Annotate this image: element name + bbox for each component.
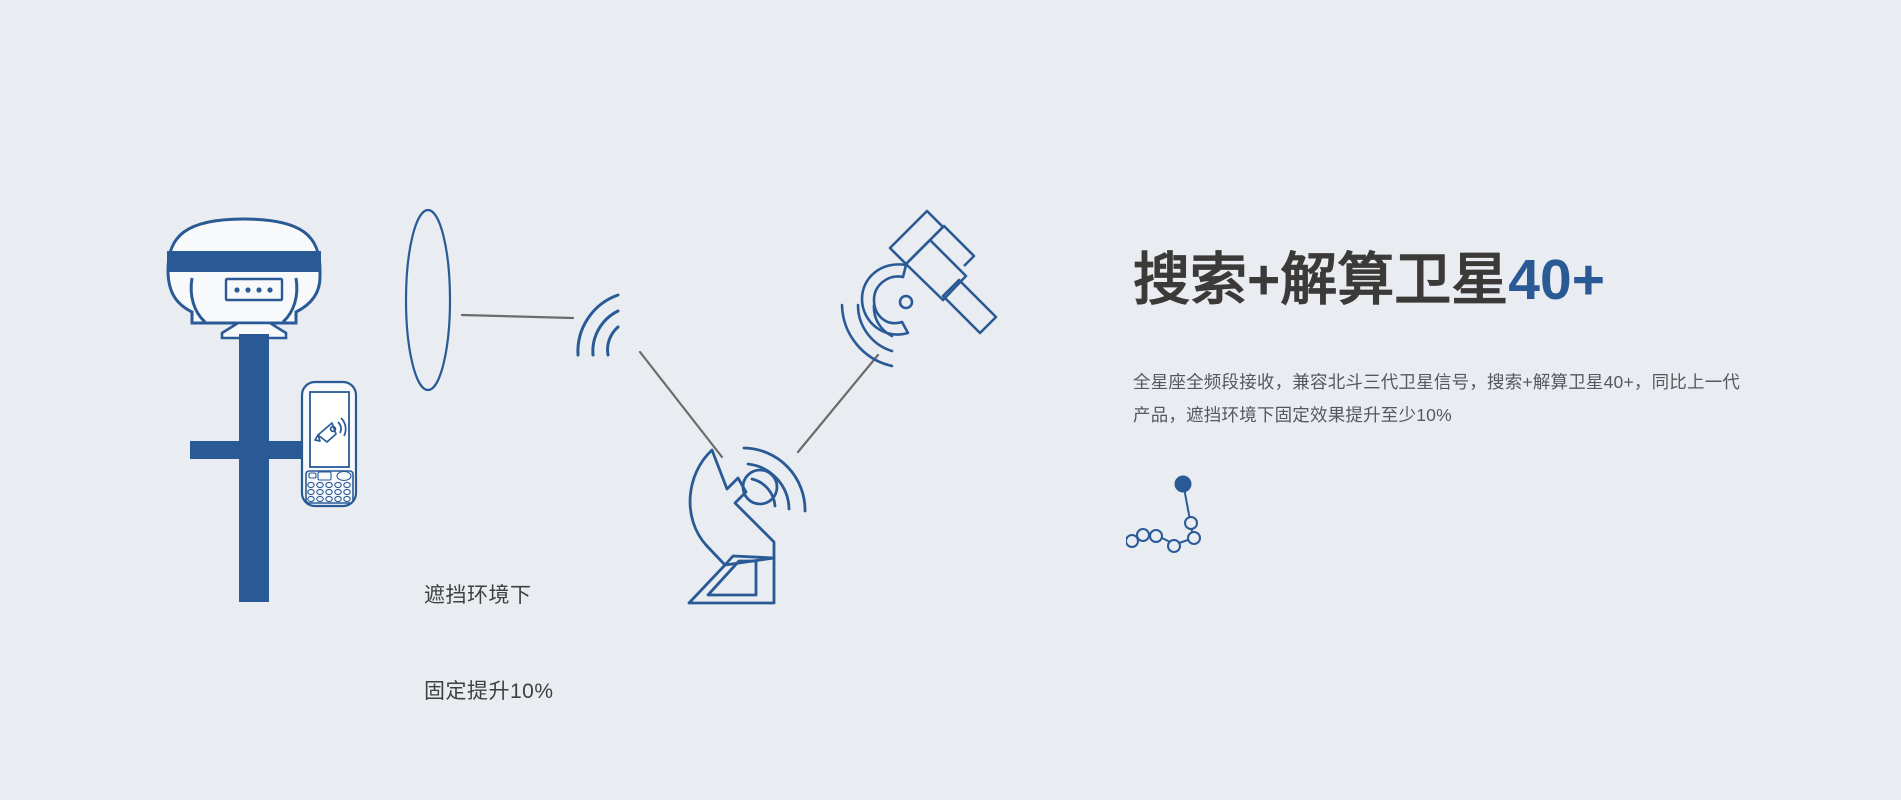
receiver-blue-band bbox=[167, 251, 321, 272]
satellite-dish-feed bbox=[900, 296, 912, 308]
signal-arcs-upper bbox=[578, 295, 618, 355]
led-indicator bbox=[256, 287, 261, 292]
connector-lines bbox=[462, 315, 878, 457]
led-indicator bbox=[267, 287, 272, 292]
feature-description: 全星座全频段接收，兼容北斗三代卫星信号，搜索+解算卫星40+，同比上一代产品，遮… bbox=[1133, 366, 1750, 432]
controller-screen bbox=[310, 392, 349, 467]
receiver-led-panel bbox=[226, 279, 282, 300]
node-filled bbox=[1175, 476, 1192, 493]
pole-crossbar bbox=[190, 441, 319, 459]
caption-line-1: 遮挡环境下 bbox=[424, 580, 554, 612]
node-hollow bbox=[1150, 530, 1162, 542]
node-hollow bbox=[1168, 540, 1180, 552]
occlusion-caption: 遮挡环境下 固定提升10% bbox=[424, 516, 554, 772]
solar-panel-upper bbox=[890, 211, 943, 264]
connector-ground-to-satellite bbox=[798, 355, 878, 452]
ground-station-dish bbox=[689, 448, 805, 603]
node-hollow bbox=[1137, 529, 1149, 541]
node-hollow bbox=[1126, 535, 1138, 547]
ground-dish-base-inner bbox=[708, 561, 756, 595]
led-indicator bbox=[245, 287, 250, 292]
node-link bbox=[1184, 488, 1190, 520]
pole-shaft bbox=[239, 334, 269, 602]
node-hollow bbox=[1185, 517, 1197, 529]
headline-accent: 40+ bbox=[1508, 248, 1605, 312]
product-feature-banner: 遮挡环境下 固定提升10% 搜索+解算卫星40+ 全星座全频段接收，兼容北斗三代… bbox=[0, 0, 1901, 800]
satellite-signal-arcs bbox=[842, 305, 892, 366]
connector-arcs-to-ground bbox=[640, 352, 722, 457]
gnss-system-illustration: 遮挡环境下 固定提升10% bbox=[0, 0, 1100, 800]
headline-main: 搜索+解算卫星 bbox=[1133, 248, 1508, 312]
page-title: 搜索+解算卫星40+ bbox=[1133, 246, 1833, 314]
connector-reflector-to-arcs bbox=[462, 315, 573, 318]
node-chain-decoration bbox=[1126, 468, 1256, 563]
node-hollow bbox=[1188, 532, 1200, 544]
feature-text-block: 搜索+解算卫星40+ 全星座全频段接收，兼容北斗三代卫星信号，搜索+解算卫星40… bbox=[1133, 246, 1833, 450]
led-indicator bbox=[234, 287, 239, 292]
parabolic-reflector bbox=[406, 210, 450, 390]
satellite-panel-edge bbox=[934, 226, 974, 266]
handheld-controller bbox=[302, 382, 356, 506]
survey-pole bbox=[190, 334, 319, 602]
satellite bbox=[842, 211, 996, 366]
solar-panel-lower bbox=[943, 280, 996, 333]
satellite-body bbox=[906, 240, 966, 300]
caption-line-2: 固定提升10% bbox=[424, 676, 554, 708]
gnss-receiver bbox=[167, 219, 321, 338]
